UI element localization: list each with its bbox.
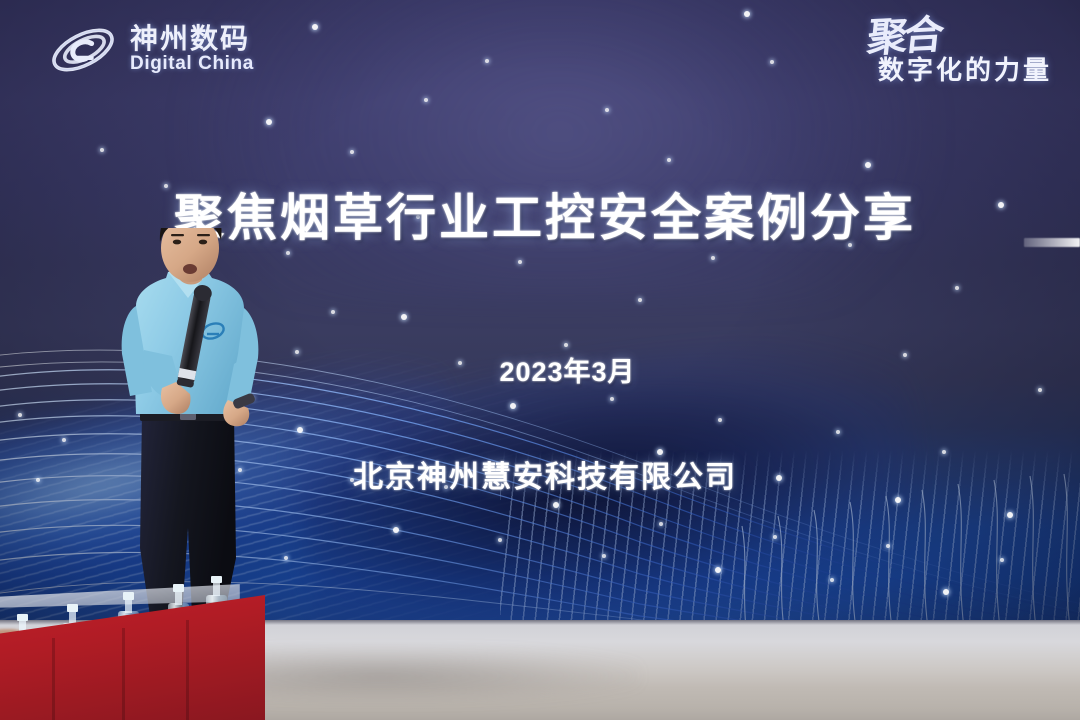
light-particle: [553, 502, 559, 508]
light-particle: [711, 256, 715, 260]
light-particle: [602, 554, 606, 558]
light-particle: [100, 148, 104, 152]
light-particle: [1007, 512, 1013, 518]
light-particle: [718, 418, 722, 422]
brand-name-en: Digital China: [130, 53, 254, 76]
event-wordmark-cn: 聚合: [865, 11, 1054, 57]
light-particle: [659, 522, 663, 526]
digital-china-swirl-icon: [46, 22, 120, 78]
light-particle: [485, 59, 489, 63]
light-particle: [605, 108, 609, 112]
head-table: [0, 585, 265, 720]
table-skirt-fold: [122, 628, 125, 720]
light-particle: [744, 11, 750, 17]
light-particle: [638, 298, 642, 302]
brand-logo: 神州数码 Digital China: [46, 22, 254, 78]
light-particle: [18, 413, 22, 417]
light-particle: [510, 403, 516, 409]
light-particle: [350, 150, 354, 154]
light-particle: [393, 527, 399, 533]
light-particle: [424, 98, 428, 102]
light-particle: [62, 438, 66, 442]
light-particle: [331, 310, 335, 314]
table-skirt-fold: [186, 620, 189, 720]
light-particle: [836, 430, 840, 434]
conference-stage-photo: 神州数码 Digital China 聚合 数字化的力量 聚焦烟草行业工控安全案…: [0, 0, 1080, 720]
light-particle: [286, 251, 290, 255]
light-particle: [610, 397, 614, 401]
brand-name-cn: 神州数码: [130, 24, 254, 53]
light-particle: [1000, 558, 1004, 562]
light-particle: [667, 158, 671, 162]
light-particle: [865, 162, 871, 168]
light-particle: [518, 260, 522, 264]
light-particle: [955, 286, 959, 290]
light-particle: [401, 314, 407, 320]
light-particle: [943, 589, 949, 595]
light-particle: [886, 544, 890, 548]
light-particle: [773, 535, 777, 539]
light-particle: [564, 343, 568, 347]
light-particle: [895, 497, 901, 503]
speaker-figure: [96, 228, 286, 618]
table-skirt-fold: [52, 638, 55, 720]
light-particle: [715, 567, 721, 573]
light-particle: [770, 60, 774, 64]
light-particle: [312, 24, 318, 30]
light-particle: [266, 119, 272, 125]
light-particle: [297, 427, 303, 433]
event-logo: 聚合 数字化的力量: [868, 16, 1052, 87]
light-particle: [498, 538, 502, 542]
speaker-illustration: [96, 228, 286, 618]
light-particle: [830, 578, 834, 582]
